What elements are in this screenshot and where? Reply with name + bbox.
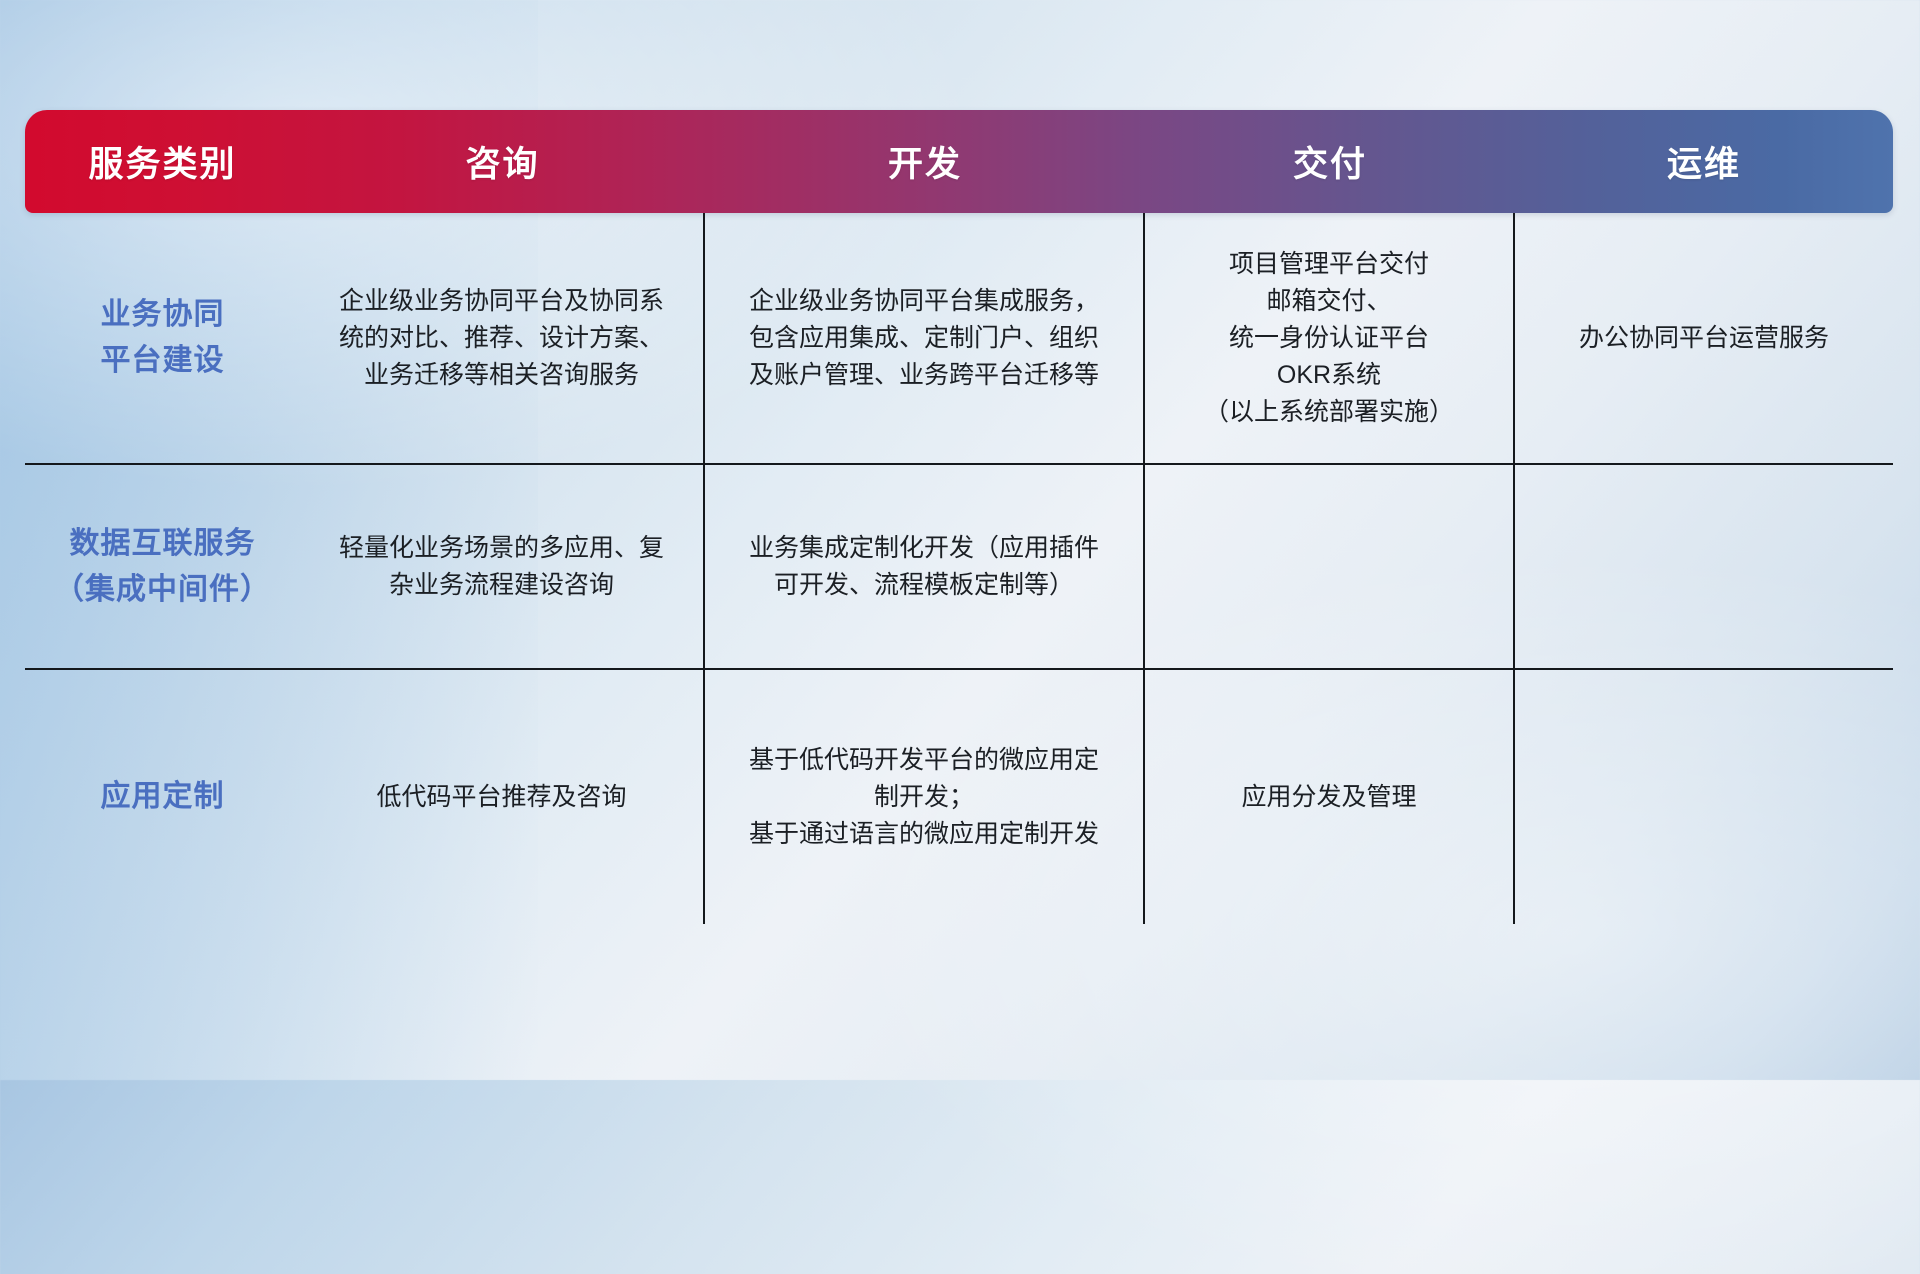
header-label-delivery: 交付 bbox=[1293, 136, 1367, 187]
header-cell-consulting: 咨询 bbox=[300, 110, 705, 213]
service-matrix-table: 服务类别 咨询 开发 交付 运维 业务协同 平台建设 企业级业务协同平台及协同系… bbox=[25, 110, 1893, 965]
header-label-consulting: 咨询 bbox=[465, 136, 539, 187]
cell-category: 数据互联服务 （集成中间件） bbox=[25, 465, 300, 668]
table-header-row: 服务类别 咨询 开发 交付 运维 bbox=[25, 110, 1893, 213]
table-row: 数据互联服务 （集成中间件） 轻量化业务场景的多应用、复 杂业务流程建设咨询 业… bbox=[25, 463, 1893, 668]
cell-consulting: 轻量化业务场景的多应用、复 杂业务流程建设咨询 bbox=[300, 465, 705, 668]
cell-delivery bbox=[1145, 465, 1515, 668]
cell-consulting: 企业级业务协同平台及协同系 统的对比、推荐、设计方案、 业务迁移等相关咨询服务 bbox=[300, 213, 705, 463]
header-cell-service-category: 服务类别 bbox=[25, 110, 300, 213]
table-body: 业务协同 平台建设 企业级业务协同平台及协同系 统的对比、推荐、设计方案、 业务… bbox=[25, 213, 1893, 924]
header-label-operations: 运维 bbox=[1667, 136, 1741, 187]
cell-operations: 办公协同平台运营服务 bbox=[1515, 213, 1893, 463]
header-cell-delivery: 交付 bbox=[1145, 110, 1515, 213]
table-row: 应用定制 低代码平台推荐及咨询 基于低代码开发平台的微应用定 制开发； 基于通过… bbox=[25, 668, 1893, 924]
cell-category: 业务协同 平台建设 bbox=[25, 213, 300, 463]
cell-category: 应用定制 bbox=[25, 670, 300, 924]
cell-development: 业务集成定制化开发（应用插件 可开发、流程模板定制等） bbox=[705, 465, 1145, 668]
cell-development: 企业级业务协同平台集成服务， 包含应用集成、定制门户、组织 及账户管理、业务跨平… bbox=[705, 213, 1145, 463]
header-label-development: 开发 bbox=[888, 136, 962, 187]
cell-consulting: 低代码平台推荐及咨询 bbox=[300, 670, 705, 924]
cell-operations bbox=[1515, 465, 1893, 668]
cell-operations bbox=[1515, 670, 1893, 924]
cell-development: 基于低代码开发平台的微应用定 制开发； 基于通过语言的微应用定制开发 bbox=[705, 670, 1145, 924]
cell-delivery: 应用分发及管理 bbox=[1145, 670, 1515, 924]
header-cell-operations: 运维 bbox=[1515, 110, 1893, 213]
header-label-service-category: 服务类别 bbox=[88, 136, 236, 187]
cell-delivery: 项目管理平台交付 邮箱交付、 统一身份认证平台 OKR系统 （以上系统部署实施） bbox=[1145, 213, 1515, 463]
table-row: 业务协同 平台建设 企业级业务协同平台及协同系 统的对比、推荐、设计方案、 业务… bbox=[25, 213, 1893, 463]
header-cell-development: 开发 bbox=[705, 110, 1145, 213]
